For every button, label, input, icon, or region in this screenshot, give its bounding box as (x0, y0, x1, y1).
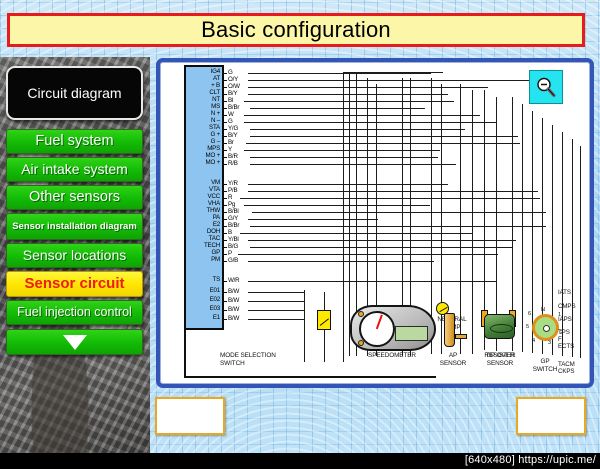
pin-name: VM (182, 179, 220, 186)
right-label-fi: FI (558, 336, 563, 343)
pin-name: VTA (182, 186, 220, 193)
wire-color-code: B/Y (228, 90, 237, 97)
right-label-cmps: CMPS (558, 303, 575, 310)
tip-over-sensor (484, 314, 515, 339)
wire-color-code: B/G (228, 243, 238, 250)
sidebar-header-label: Circuit diagram (27, 86, 121, 101)
speedometer-label: SPEEDOMETER (368, 352, 416, 359)
sidebar-item-label: Sensor locations (23, 248, 127, 263)
wire-color-code: W/R (228, 277, 239, 284)
right-label-ects: ECTS (558, 343, 574, 350)
pin-name: + B (182, 82, 220, 89)
wire-color-code: Y (228, 146, 232, 153)
wire-color-code: O/Y (228, 76, 238, 83)
wire-color-code: Y/Bl (228, 236, 239, 243)
sidebar-header-circuit-diagram: Circuit diagram (6, 66, 143, 120)
speedometer-screw (358, 311, 364, 317)
pin-name: PM (182, 256, 220, 263)
pin-name: G + (182, 131, 220, 138)
pin-name: VHA (182, 200, 220, 207)
down-triangle-icon (63, 335, 87, 350)
pin-name: MS (182, 103, 220, 110)
wire-color-code: G (228, 118, 233, 125)
sidebar-item-label: Air intake system (21, 162, 128, 177)
sidebar: Circuit diagram Fuel system Air intake s… (0, 57, 150, 458)
right-label-ckps: CKPS (558, 368, 574, 375)
wire-color-code: P/B (228, 187, 237, 194)
pin-name: AT (182, 75, 220, 82)
wire-color-code: P (228, 250, 232, 257)
sidebar-item-fuel-system[interactable]: Fuel system (6, 129, 143, 154)
wire-color-code: G/Y (228, 215, 238, 222)
sidebar-item-sensor-locations[interactable]: Sensor locations (6, 243, 143, 268)
gp-position-N: N (541, 307, 545, 313)
ap-sensor (444, 313, 455, 347)
pin-name: E1 (182, 314, 220, 321)
magnifier-minus-icon (534, 75, 558, 99)
right-label-iats: IATS (558, 289, 571, 296)
sidebar-item-air-intake-system[interactable]: Air intake system (6, 157, 143, 182)
pin-name: PA (182, 214, 220, 221)
sidebar-item-sensor-circuit[interactable]: Sensor circuit (6, 271, 143, 297)
wire-color-code: Y/R (228, 180, 238, 187)
pin-name: N – (182, 117, 220, 124)
pin-name: E2 (182, 221, 220, 228)
gp-switch (532, 314, 559, 341)
gp-switch-label-line1: GP (540, 358, 549, 365)
sidebar-item-sensor-installation-diagram[interactable]: Sensor installation diagram (6, 213, 143, 240)
pin-name: VCC (182, 193, 220, 200)
wire-color-code: B/Bl (228, 208, 239, 215)
speedometer-lcd (395, 326, 428, 341)
pin-name: MPS (182, 145, 220, 152)
pin-name: NT (182, 96, 220, 103)
speedometer (350, 305, 436, 351)
wire-color-code: B/W (228, 288, 239, 295)
gp-position-6: 6 (528, 311, 531, 317)
sidebar-item-label: Fuel injection control (17, 306, 132, 319)
pin-name: STA (182, 124, 220, 131)
mode-selection-switch-label-line2: SWITCH (220, 360, 245, 367)
pin-name: E03 (182, 305, 220, 312)
circuit-diagram-panel: IG4 G AT O/Y + B O/W (156, 58, 594, 388)
wire-color-code: B/R (228, 153, 238, 160)
zoom-out-button[interactable] (529, 70, 563, 104)
wire-color-code: R/B (228, 160, 238, 167)
speedometer-dial (359, 311, 395, 347)
pin-name: MO + (182, 159, 220, 166)
wire-color-code: O/W (228, 83, 240, 90)
pin-name: E01 (182, 287, 220, 294)
app-root: Basic configuration Circuit diagram Fuel… (0, 0, 600, 469)
right-label-iaps: IAPS (558, 316, 572, 323)
tip-over-sensor-label-line2: SENSOR (487, 360, 513, 367)
ap-sensor-label-line1: AP (449, 352, 457, 359)
wire-color-code: B/W (228, 315, 239, 322)
right-label-tacm: TACM (558, 361, 575, 368)
sidebar-item-fuel-injection-control[interactable]: Fuel injection control (6, 300, 143, 325)
ecu-left-rail (184, 330, 186, 378)
pin-name: DOH (182, 228, 220, 235)
wire-color-code: B/W (228, 297, 239, 304)
speedometer-screw (358, 340, 364, 346)
wire-color-code: G (228, 69, 233, 76)
gp-switch-label-line2: SWITCH (533, 366, 558, 373)
circuit-diagram-canvas: IG4 G AT O/Y + B O/W (160, 62, 590, 384)
pin-name: MO + (182, 152, 220, 159)
gp-position-5: 5 (526, 324, 529, 330)
sidebar-item-other-sensors[interactable]: Other sensors (6, 185, 143, 210)
wire-color-code: Bl (228, 97, 233, 104)
wire-color-code: W (228, 111, 234, 118)
pin-name: TAC (182, 235, 220, 242)
sidebar-item-label: Other sensors (29, 190, 120, 205)
bottom-nav-box-right[interactable] (516, 397, 586, 435)
page-title-bar: Basic configuration (7, 13, 585, 47)
mode-selection-switch-label-line1: MODE SELECTION (220, 352, 276, 359)
pin-name: TECH (182, 242, 220, 249)
sidebar-item-label: Fuel system (35, 134, 113, 149)
sidebar-item-label: Sensor circuit (24, 276, 124, 292)
bottom-nav-box-left[interactable] (155, 397, 225, 435)
ap-sensor-label-line2: SENSOR (440, 360, 466, 367)
wire-color-code: B (228, 229, 232, 236)
pin-name: IG4 (182, 68, 220, 75)
pin-name: N + (182, 110, 220, 117)
watermark-label: [640x480] https://upic.me/ (465, 454, 596, 466)
pin-name: E02 (182, 296, 220, 303)
mode-selection-switch (317, 310, 331, 330)
footer-bar: [640x480] https://upic.me/ (0, 453, 600, 469)
wire-color-code: Y/G (228, 125, 238, 132)
page-title: Basic configuration (201, 17, 391, 43)
wire-color-code: Br (228, 139, 234, 146)
wire-color-code: R (228, 194, 232, 201)
gp-position-3: 3 (548, 340, 551, 346)
pin-name: TS (182, 276, 220, 283)
wire-color-code: B/Br (228, 104, 239, 111)
right-label-tps: TPS (558, 329, 570, 336)
wire-color-code: B/Y (228, 132, 237, 139)
pin-name: CLT (182, 89, 220, 96)
wire-color-code: B/Br (228, 222, 239, 229)
wire-color-code: B/W (228, 306, 239, 313)
ap-sensor-nozzle (455, 334, 467, 339)
gp-position-4: 4 (532, 338, 535, 344)
pin-name: G – (182, 138, 220, 145)
pin-name: GP (182, 249, 220, 256)
tip-over-sensor-label-line1: TIP OVER (486, 352, 515, 359)
sidebar-item-label: Sensor installation diagram (12, 222, 137, 232)
sidebar-scroll-down-button[interactable] (6, 329, 143, 355)
pin-name: THW (182, 207, 220, 214)
ecu-bottom-rail (184, 376, 436, 378)
wire-color-code: Pg (228, 201, 235, 208)
wire-color-code: G/B (228, 257, 238, 264)
